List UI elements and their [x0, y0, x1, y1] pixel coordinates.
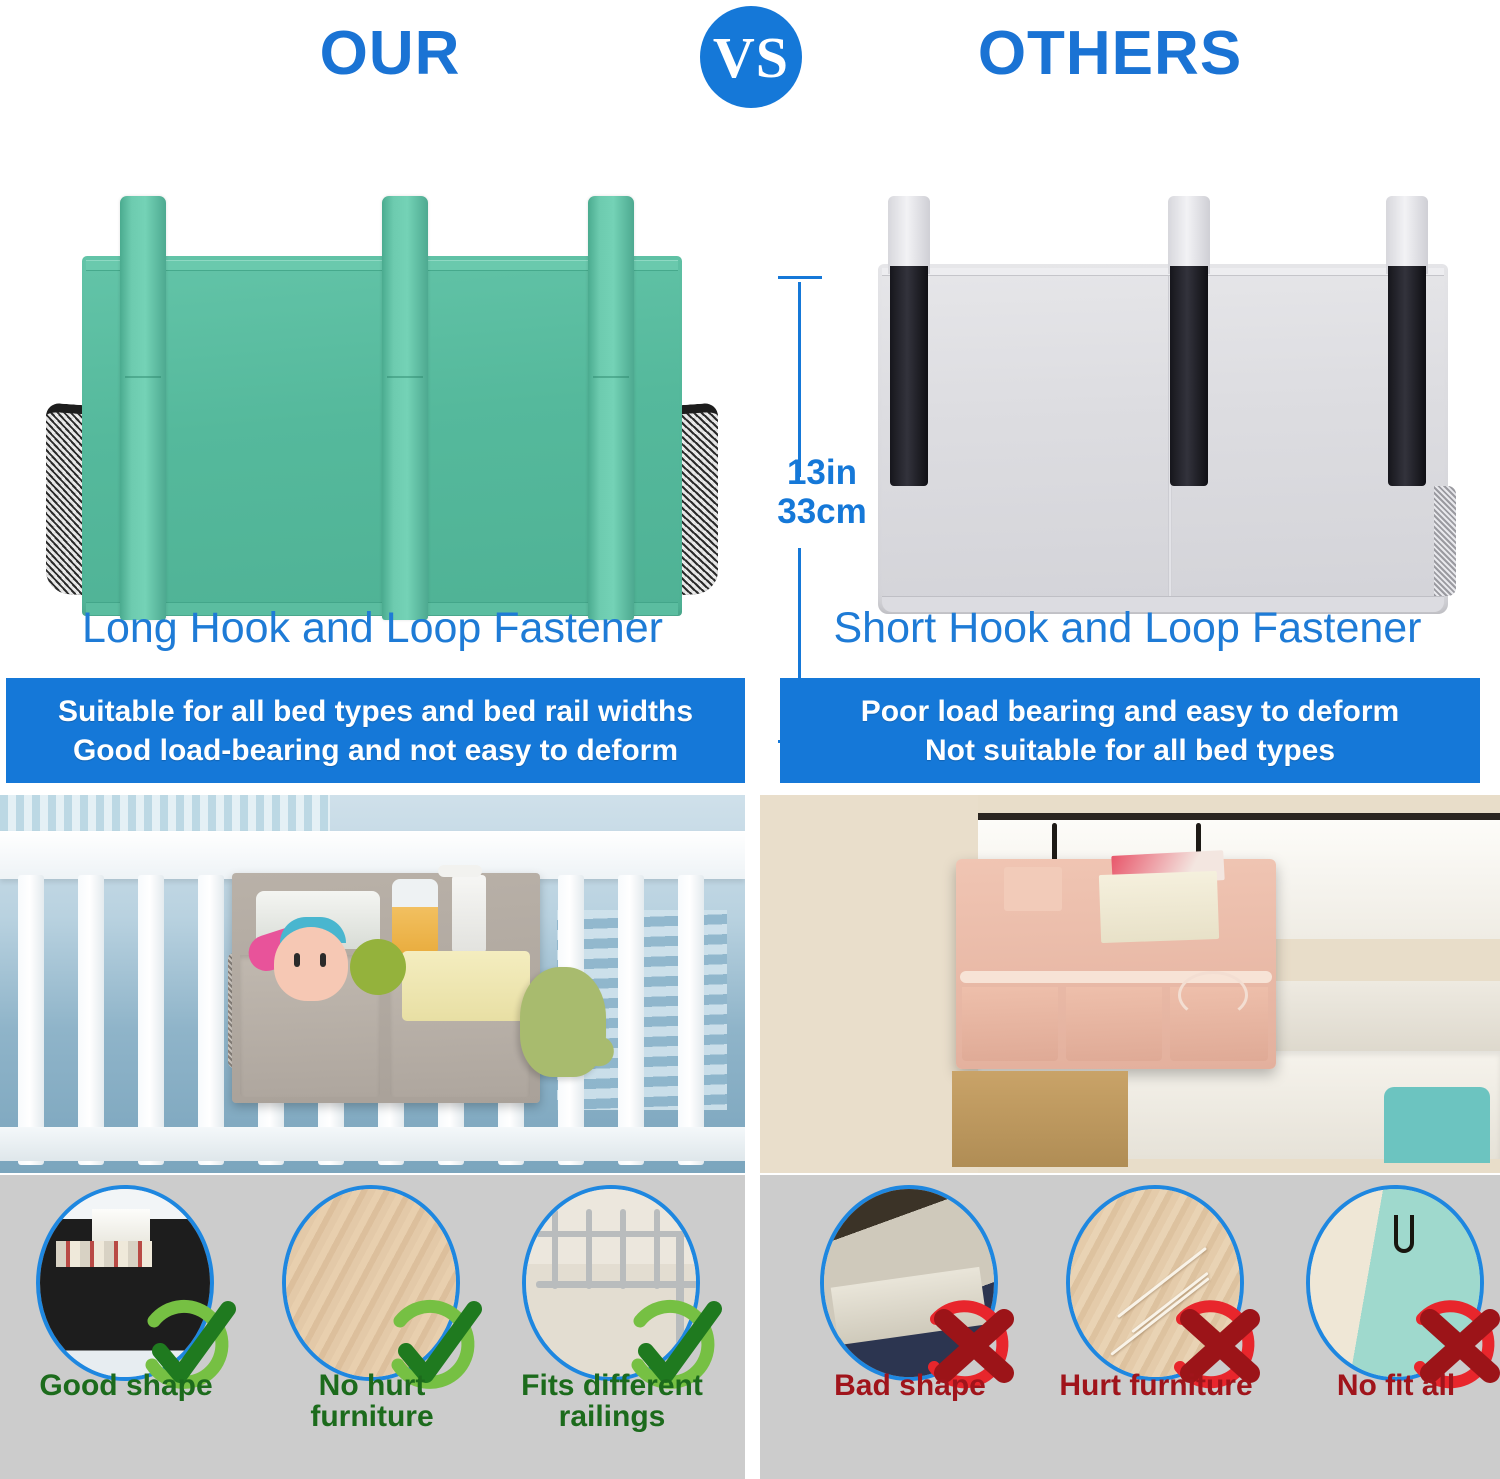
strap-velcro-part — [890, 266, 928, 486]
header: OUR VS OTHERS — [0, 0, 1500, 118]
book-in-pocket — [1099, 871, 1219, 943]
our-lifestyle-photo — [0, 795, 745, 1173]
railing-bar — [654, 1209, 660, 1289]
strap-fabric-part — [1386, 196, 1428, 274]
others-short-strap-1 — [888, 196, 930, 486]
our-benefits-banner: Suitable for all bed types and bed rail … — [6, 678, 745, 783]
plush-toy-head — [274, 927, 348, 1001]
teal-chair — [1384, 1087, 1490, 1163]
verdict-badge-no-hurt-furniture: No hurt furniture — [268, 1185, 476, 1385]
others-product-image — [868, 196, 1450, 626]
others-drawbacks-banner: Poor load bearing and easy to deform Not… — [780, 678, 1480, 783]
railing-bar — [586, 1209, 592, 1289]
others-bag-body — [878, 264, 1448, 614]
railing-bar — [620, 1209, 626, 1289]
railing-bar — [552, 1209, 558, 1289]
verdict-badge-no-fit-all: No fit all — [1292, 1185, 1500, 1385]
lotion-pump-bottle — [452, 875, 486, 953]
crib-slat — [18, 875, 44, 1165]
others-short-strap-3 — [1386, 196, 1428, 486]
bed-shelf — [1238, 981, 1500, 1059]
comparison-infographic: OUR VS OTHERS 13in 33cm — [0, 0, 1500, 1479]
others-short-strap-2 — [1168, 196, 1210, 486]
others-title: OTHERS — [880, 18, 1340, 89]
lifestyle-photo-row — [0, 795, 1500, 1175]
strap-fabric-part — [888, 196, 930, 274]
verdict-caption: Hurt furniture — [1038, 1371, 1274, 1402]
others-drawback-line-1: Poor load bearing and easy to deform — [861, 693, 1399, 731]
green-dinosaur-plush — [520, 967, 606, 1077]
verdict-caption: Fits different railings — [494, 1371, 730, 1432]
our-benefit-line-2: Good load-bearing and not easy to deform — [73, 732, 678, 770]
diaper-pack — [402, 951, 530, 1021]
our-fastener-subtitle: Long Hook and Loop Fastener — [0, 604, 745, 653]
crib-rail-bottom — [0, 1127, 745, 1161]
our-long-strap-2 — [382, 196, 428, 620]
crib-slat — [618, 875, 644, 1165]
strap-velcro-part — [1388, 266, 1426, 486]
strap-velcro-part — [1170, 266, 1208, 486]
our-long-strap-1 — [120, 196, 166, 620]
cable-in-pocket — [1178, 971, 1248, 1019]
baby-bottle — [392, 879, 438, 953]
crib-slat — [78, 875, 104, 1165]
our-product-image — [82, 196, 682, 626]
dimension-line-top — [798, 282, 801, 477]
crib-slat — [198, 875, 224, 1165]
others-verdict-panel: Bad shape Hurt furniture — [760, 1175, 1500, 1479]
dimension-cap-top — [778, 276, 822, 279]
others-drawback-line-2: Not suitable for all bed types — [925, 732, 1335, 770]
our-long-strap-3 — [588, 196, 634, 620]
vs-badge: VS — [700, 6, 802, 108]
others-bag-top-seam — [882, 268, 1444, 276]
verdict-badge-fits-railings: Fits different railings — [508, 1185, 716, 1385]
our-verdict-panel: Good shape No hurt furniture — [0, 1175, 745, 1479]
organizer-pocket — [1066, 987, 1162, 1061]
verdict-badge-good-shape: Good shape — [22, 1185, 230, 1385]
our-benefit-line-1: Suitable for all bed types and bed rail … — [58, 693, 693, 731]
mesh-pocket-right-icon — [676, 403, 718, 596]
verdict-caption: No hurt furniture — [254, 1371, 490, 1432]
strap-fabric-part — [1168, 196, 1210, 274]
verdict-caption: Bad shape — [792, 1371, 1028, 1402]
verdict-caption: No fit all — [1278, 1371, 1500, 1402]
crib-slat — [138, 875, 164, 1165]
product-comparison-row: 13in 33cm — [0, 118, 1500, 600]
verdict-badge-row: Good shape No hurt furniture — [0, 1175, 1500, 1479]
beige-crib-organizer — [232, 873, 540, 1103]
subtitle-row: Long Hook and Loop Fastener Short Hook a… — [0, 600, 1500, 675]
verdict-badge-hurt-furniture: Hurt furniture — [1052, 1185, 1260, 1385]
others-lifestyle-photo — [760, 795, 1500, 1173]
organizer-pocket — [962, 987, 1058, 1061]
verdict-badge-bad-shape: Bad shape — [806, 1185, 1014, 1385]
organizer-flap — [1004, 867, 1062, 911]
green-plush-ball — [350, 939, 406, 995]
crib-slat — [678, 875, 704, 1165]
others-fastener-subtitle: Short Hook and Loop Fastener — [755, 604, 1500, 653]
verdict-caption: Good shape — [8, 1371, 244, 1402]
others-mesh-pocket-icon — [1434, 486, 1456, 596]
banner-row: Suitable for all bed types and bed rail … — [0, 678, 1500, 790]
crib-rail-top — [0, 831, 745, 879]
our-title: OUR — [160, 18, 620, 89]
cardboard-box — [952, 1071, 1128, 1167]
room-wall — [760, 795, 978, 1173]
pink-bedside-organizer — [956, 859, 1276, 1069]
